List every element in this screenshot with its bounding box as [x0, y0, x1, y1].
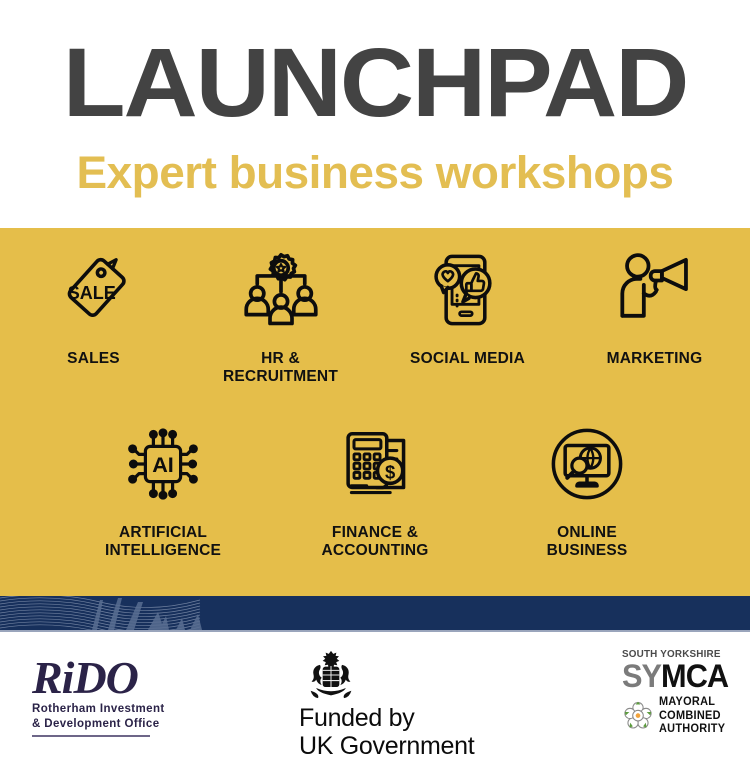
poster-footer: RiDO Rotherham Investment & Development … — [0, 632, 750, 750]
org-chart-gear-icon — [231, 244, 331, 336]
workshop-item-artificial-intelligence[interactable]: AI ARTIFICIAL IN — [57, 418, 269, 561]
sale-tag-icon: SALE — [44, 244, 144, 336]
ai-chip-icon: AI — [113, 418, 213, 510]
calculator-dollar-icon: $ — [325, 418, 425, 510]
symca-bottom-row: MAYORAL COMBINED AUTHORITY — [622, 696, 734, 736]
workshop-row-2: AI ARTIFICIAL IN — [0, 418, 750, 561]
white-rose-icon — [622, 700, 654, 732]
symca-authority-text: MAYORAL COMBINED AUTHORITY — [659, 696, 725, 736]
workshop-item-hr-recruitment[interactable]: HR & RECRUITMENT — [187, 244, 374, 387]
symca-sy: SY — [622, 658, 661, 694]
workshop-item-marketing[interactable]: MARKETING — [561, 244, 748, 387]
rido-subtitle: Rotherham Investment & Development Offic… — [32, 702, 165, 731]
uk-government-logo[interactable]: Funded by UK Government — [299, 650, 499, 760]
navy-decorative-band — [0, 596, 750, 630]
launchpad-poster: LAUNCHPAD Expert business workshops SALE — [0, 0, 750, 750]
uk-government-text: Funded by UK Government — [299, 704, 499, 760]
rido-wordmark: RiDO — [32, 656, 165, 700]
workshop-row-1: SALE SALES — [0, 244, 750, 387]
symca-acronym: SYMCA — [622, 660, 730, 693]
rido-logo[interactable]: RiDO Rotherham Investment & Development … — [32, 656, 165, 737]
svg-text:SALE: SALE — [67, 283, 115, 303]
symca-logo[interactable]: SOUTH YORKSHIRE SYMCA — [622, 648, 734, 736]
workshop-label: ONLINE BUSINESS — [547, 524, 628, 561]
svg-text:$: $ — [385, 461, 396, 482]
person-megaphone-icon — [605, 244, 705, 336]
workshop-label: FINANCE & ACCOUNTING — [321, 524, 428, 561]
workshop-label: SOCIAL MEDIA — [410, 350, 525, 368]
page-subtitle: Expert business workshops — [0, 150, 750, 195]
rido-underline — [32, 735, 150, 737]
page-title: LAUNCHPAD — [0, 34, 750, 131]
svg-text:AI: AI — [152, 452, 174, 477]
workshop-label: MARKETING — [607, 350, 703, 368]
workshop-label: ARTIFICIAL INTELLIGENCE — [105, 524, 221, 561]
phone-reactions-icon — [418, 244, 518, 336]
moire-pattern — [0, 596, 420, 630]
workshop-item-finance-accounting[interactable]: $ FINANCE & ACCOUNTING — [269, 418, 481, 561]
monitor-globe-icon — [537, 418, 637, 510]
symca-mca: MCA — [661, 658, 728, 694]
workshop-label: HR & RECRUITMENT — [223, 350, 338, 387]
workshop-item-sales[interactable]: SALE SALES — [0, 244, 187, 387]
workshop-item-social-media[interactable]: SOCIAL MEDIA — [374, 244, 561, 387]
workshop-label: SALES — [67, 350, 120, 368]
workshop-topics-panel: SALE SALES — [0, 228, 750, 596]
poster-header: LAUNCHPAD Expert business workshops — [0, 0, 750, 228]
royal-coat-of-arms-icon — [303, 650, 359, 700]
workshop-item-online-business[interactable]: ONLINE BUSINESS — [481, 418, 693, 561]
